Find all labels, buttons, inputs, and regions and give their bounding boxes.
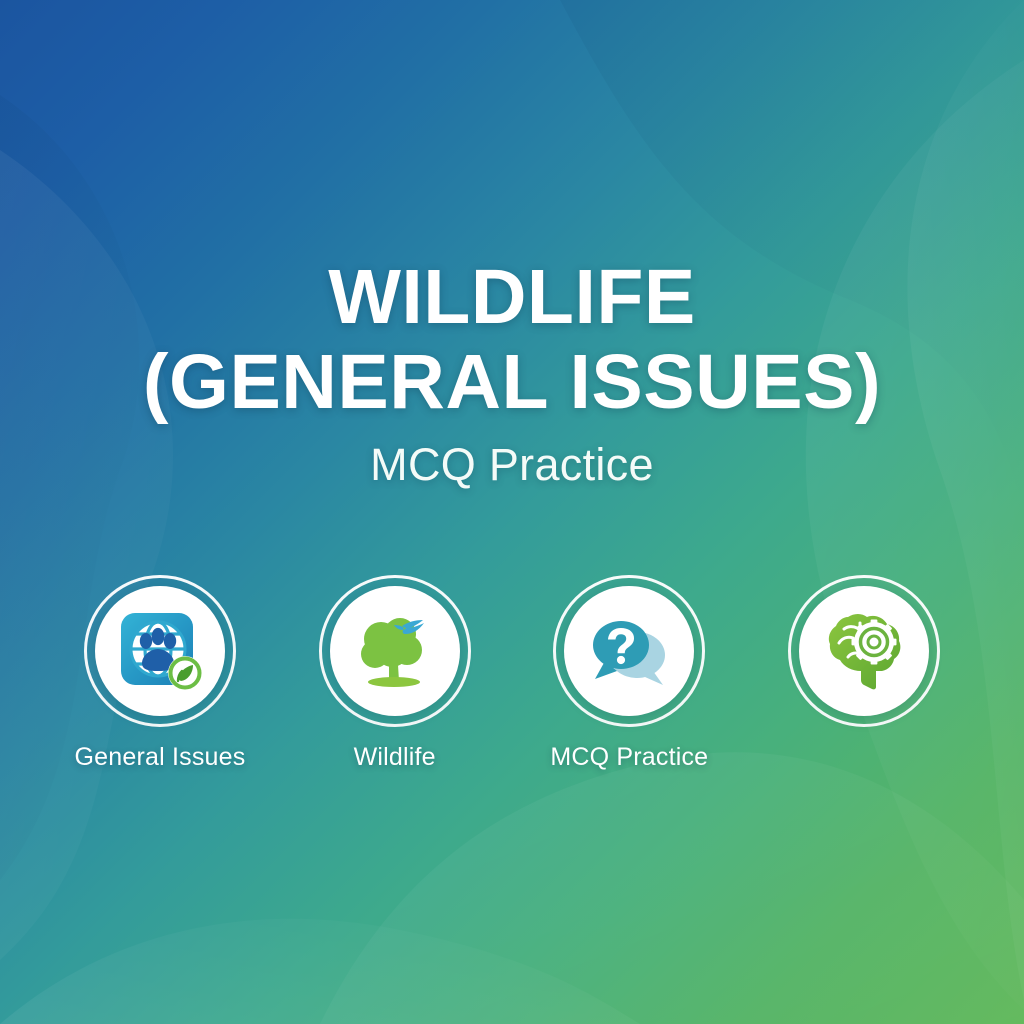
globe-paw-leaf-icon	[95, 586, 225, 716]
brain-gear-icon	[799, 586, 929, 716]
icon-item-general-issues[interactable]: General Issues	[64, 575, 256, 772]
tree-bird-icon	[330, 586, 460, 716]
badge-wildlife[interactable]	[319, 575, 471, 727]
icon-badge-row: General Issues	[64, 575, 960, 805]
icon-item-wildlife[interactable]: Wildlife	[299, 575, 491, 772]
poster-canvas: WILDLIFE (GENERAL ISSUES) MCQ Practice	[0, 0, 1024, 1024]
icon-item-mcq-practice[interactable]: MCQ Practice	[533, 575, 725, 772]
icon-label-general-issues: General Issues	[75, 743, 246, 772]
badge-general-issues[interactable]	[84, 575, 236, 727]
title-line-2: (GENERAL ISSUES)	[0, 340, 1024, 425]
background-waves	[0, 0, 1024, 1024]
poster-subtitle: MCQ Practice	[0, 439, 1024, 491]
poster-title-block: WILDLIFE (GENERAL ISSUES) MCQ Practice	[0, 255, 1024, 491]
title-line-1: WILDLIFE	[0, 255, 1024, 340]
badge-mcq-practice[interactable]	[553, 575, 705, 727]
icon-item-brain-gear[interactable]	[768, 575, 960, 727]
badge-brain-gear[interactable]	[788, 575, 940, 727]
question-speech-bubbles-icon	[564, 586, 694, 716]
icon-label-wildlife: Wildlife	[354, 743, 436, 772]
icon-label-mcq-practice: MCQ Practice	[550, 743, 708, 772]
